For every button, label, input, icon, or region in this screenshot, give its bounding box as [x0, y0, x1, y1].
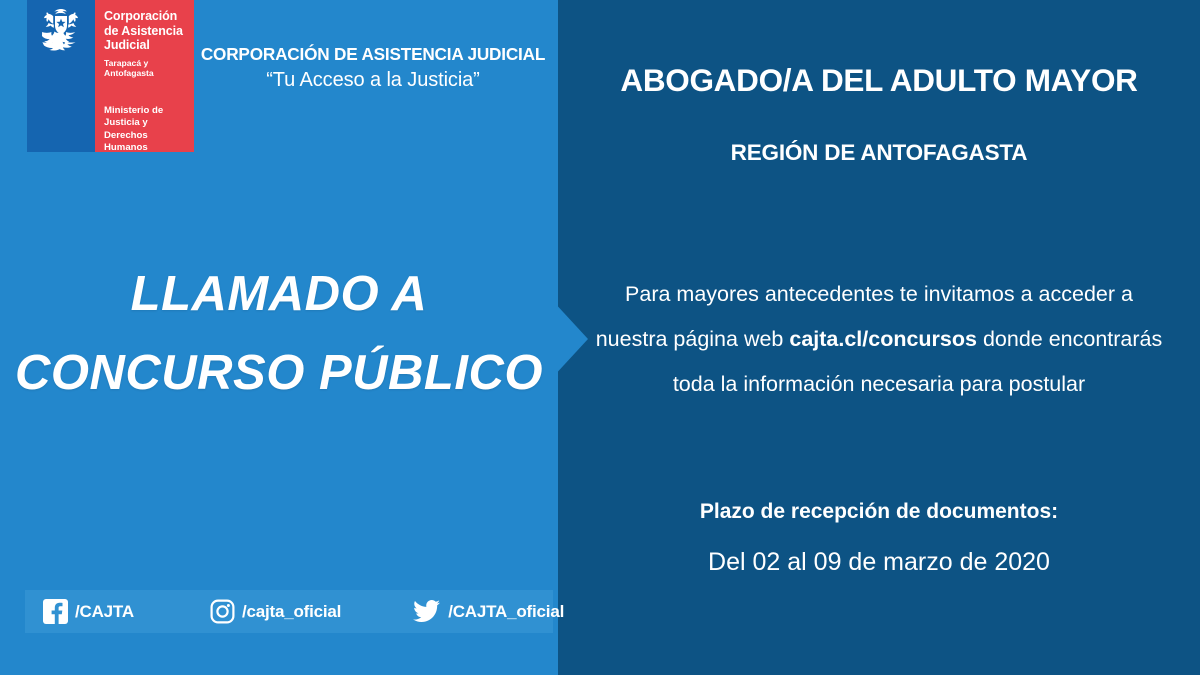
social-links-bar: /CAJTA /cajta_oficial /CAJTA_oficial [25, 590, 553, 633]
social-handle-twitter: /CAJTA_oficial [448, 602, 564, 622]
organization-slogan: “Tu Acceso a la Justicia” [196, 69, 550, 92]
logo-title-line2: de Asistencia [104, 24, 188, 39]
logo-region: Tarapacá y Antofagasta [104, 58, 188, 79]
deadline-value: Del 02 al 09 de marzo de 2020 [558, 548, 1200, 577]
page-title-line1: LLAMADO A [0, 255, 558, 334]
logo-title-line3: Judicial [104, 38, 188, 53]
logo-crest-panel [27, 0, 95, 152]
social-link-facebook[interactable]: /CAJTA [43, 599, 134, 624]
instagram-icon [210, 599, 235, 624]
job-website-link[interactable]: cajta.cl/concursos [789, 327, 977, 351]
job-title: ABOGADO/A DEL ADULTO MAYOR [558, 62, 1200, 99]
job-body-copy: Para mayores antecedentes te invitamos a… [592, 272, 1166, 407]
logo-title: Corporación de Asistencia Judicial [104, 9, 188, 53]
logo-ministry-line2: Justicia y [104, 117, 188, 129]
logo-text-panel: Corporación de Asistencia Judicial Tarap… [95, 0, 194, 152]
logo-ministry-line4: Humanos [104, 142, 188, 154]
logo-region-line2: Antofagasta [104, 68, 188, 78]
logo-title-line1: Corporación [104, 9, 188, 24]
social-handle-instagram: /cajta_oficial [242, 602, 341, 622]
deadline-label: Plazo de recepción de documentos: [558, 500, 1200, 524]
chile-coat-of-arms-icon [35, 8, 87, 54]
twitter-icon [413, 599, 441, 624]
logo-ministry-line3: Derechos [104, 130, 188, 142]
chevron-right-icon [552, 300, 588, 378]
job-region: REGIÓN DE ANTOFAGASTA [558, 140, 1200, 166]
organization-name: CORPORACIÓN DE ASISTENCIA JUDICIAL [196, 44, 550, 65]
institutional-logo: Corporación de Asistencia Judicial Tarap… [27, 0, 194, 152]
organization-header: CORPORACIÓN DE ASISTENCIA JUDICIAL “Tu A… [196, 44, 550, 92]
social-link-instagram[interactable]: /cajta_oficial [210, 599, 341, 624]
logo-region-line1: Tarapacá y [104, 58, 188, 68]
poster-canvas: Corporación de Asistencia Judicial Tarap… [0, 0, 1200, 675]
facebook-icon [43, 599, 68, 624]
social-handle-facebook: /CAJTA [75, 602, 134, 622]
social-link-twitter[interactable]: /CAJTA_oficial [413, 599, 564, 624]
logo-ministry: Ministerio de Justicia y Derechos Humano… [104, 105, 188, 155]
page-title-line2: CONCURSO PÚBLICO [0, 334, 558, 413]
logo-ministry-line1: Ministerio de [104, 105, 188, 117]
page-title: LLAMADO A CONCURSO PÚBLICO [0, 255, 558, 414]
